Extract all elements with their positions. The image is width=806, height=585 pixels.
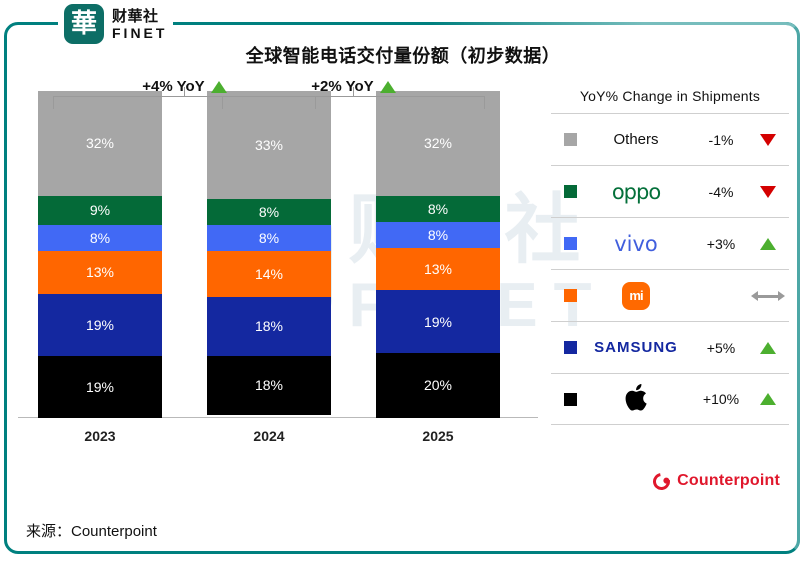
- legend-brand: vivo: [577, 218, 695, 269]
- brand-name-en: FINET: [112, 26, 167, 40]
- bar-segment-label: 32%: [86, 135, 114, 151]
- bar-segment-label: 13%: [86, 264, 114, 280]
- legend-row: oppo-4%: [551, 165, 789, 217]
- legend-color-swatch: [564, 289, 577, 302]
- bar-segment: 20%: [376, 353, 500, 418]
- bar-segment: 13%: [38, 251, 162, 294]
- counterpoint-wordmark: Counterpoint: [677, 472, 780, 490]
- legend-color-swatch: [564, 393, 577, 406]
- stacked-bar: 32%8%8%13%19%20%: [376, 91, 500, 418]
- x-axis-tick-label: 2023: [38, 428, 162, 444]
- xiaomi-logo-icon: mi: [622, 282, 650, 310]
- yoy-change-label: +2% YoY: [222, 78, 485, 95]
- triangle-up-icon: [760, 342, 776, 354]
- counterpoint-logo-icon: [650, 469, 674, 493]
- legend-row: SAMSUNG+5%: [551, 321, 789, 373]
- legend-row: vivo+3%: [551, 217, 789, 269]
- yoy-bracket: [222, 96, 485, 109]
- triangle-up-icon: [380, 81, 396, 93]
- bar-segment: 8%: [376, 222, 500, 248]
- legend-direction-indicator: [747, 134, 789, 146]
- bar-segment-label: 19%: [86, 379, 114, 395]
- legend-panel: YoY% Change in Shipments Others-1%oppo-4…: [551, 88, 789, 425]
- legend-row: +10%: [551, 373, 789, 425]
- bar-segment: 19%: [38, 294, 162, 356]
- legend-color-swatch: [564, 133, 577, 146]
- legend-direction-indicator: [747, 186, 789, 198]
- bar-segment-label: 8%: [428, 201, 448, 217]
- bar-segment-label: 9%: [90, 202, 110, 218]
- legend-rows: Others-1%oppo-4%vivo+3%miSAMSUNG+5%+10%: [551, 113, 789, 425]
- bar-segment-label: 33%: [255, 137, 283, 153]
- brand-name-cn: 财華社: [112, 9, 167, 24]
- legend-direction-indicator: [747, 342, 789, 354]
- legend-row: mi: [551, 269, 789, 321]
- bar-segment: 9%: [38, 196, 162, 225]
- stacked-bar: 33%8%8%14%18%18%: [207, 91, 331, 418]
- legend-brand: oppo: [577, 166, 695, 217]
- stacked-bar: 32%9%8%13%19%19%: [38, 91, 162, 418]
- legend-color-swatch: [564, 237, 577, 250]
- legend-brand-label: oppo: [612, 180, 660, 204]
- triangle-down-icon: [760, 134, 776, 146]
- bar-segment: 19%: [38, 356, 162, 418]
- triangle-down-icon: [760, 186, 776, 198]
- legend-direction-indicator: [747, 393, 789, 405]
- yoy-change-text: +4% YoY: [142, 78, 204, 95]
- bar-segment-label: 8%: [90, 230, 110, 246]
- x-axis-tick-label: 2024: [207, 428, 331, 444]
- bar-segment: 13%: [376, 248, 500, 291]
- legend-direction-indicator: [747, 291, 789, 301]
- legend-change-pct: +5%: [695, 340, 747, 356]
- source-note: 来源：Counterpoint: [26, 520, 157, 541]
- legend-change-pct: +3%: [695, 236, 747, 252]
- bar-segment-label: 18%: [255, 377, 283, 393]
- bar-segment-label: 19%: [86, 317, 114, 333]
- legend-brand-label: Others: [613, 131, 658, 148]
- bar-segment: 8%: [207, 225, 331, 251]
- legend-brand: mi: [577, 270, 695, 321]
- bar-segment: 14%: [207, 251, 331, 297]
- bar-segment-label: 20%: [424, 377, 452, 393]
- bar-segment-label: 32%: [424, 135, 452, 151]
- finet-logo-icon: 華: [64, 4, 104, 44]
- legend-direction-indicator: [747, 238, 789, 250]
- legend-title: YoY% Change in Shipments: [551, 88, 789, 113]
- bar-segment-label: 18%: [255, 318, 283, 334]
- bar-segment-label: 13%: [424, 261, 452, 277]
- legend-brand-label: vivo: [614, 232, 658, 256]
- legend-color-swatch: [564, 341, 577, 354]
- bar-segment-label: 8%: [428, 227, 448, 243]
- legend-brand: Others: [577, 114, 695, 165]
- bar-segment: 8%: [38, 225, 162, 251]
- bar-segment: 18%: [207, 356, 331, 415]
- bar-segment-label: 19%: [424, 314, 452, 330]
- legend-row: Others-1%: [551, 113, 789, 165]
- triangle-up-icon: [760, 238, 776, 250]
- bar-segment: 19%: [376, 290, 500, 352]
- legend-change-pct: -1%: [695, 132, 747, 148]
- bar-segment: 18%: [207, 297, 331, 356]
- double-arrow-icon: [751, 291, 785, 301]
- x-axis-tick-label: 2025: [376, 428, 500, 444]
- bar-segment: 8%: [376, 196, 500, 222]
- legend-brand-label: SAMSUNG: [594, 339, 678, 356]
- bar-segment-label: 8%: [259, 204, 279, 220]
- legend-change-pct: -4%: [695, 184, 747, 200]
- legend-brand: [577, 374, 695, 424]
- brand-logo: 華 财華社 FINET: [58, 2, 173, 46]
- bar-segment: 8%: [207, 199, 331, 225]
- legend-change-pct: +10%: [695, 391, 747, 407]
- bar-column: 32%9%8%13%19%19%: [38, 91, 162, 418]
- bar-column: 32%8%8%13%19%20%: [376, 91, 500, 418]
- legend-color-swatch: [564, 185, 577, 198]
- triangle-up-icon: [760, 393, 776, 405]
- legend-brand: SAMSUNG: [577, 322, 695, 373]
- yoy-change-text: +2% YoY: [311, 78, 373, 95]
- bar-segment-label: 14%: [255, 266, 283, 282]
- apple-logo-icon: [625, 384, 647, 415]
- brand-wordmark: 财華社 FINET: [112, 9, 167, 40]
- bar-column: 33%8%8%14%18%18%: [207, 91, 331, 418]
- counterpoint-logo: Counterpoint: [653, 472, 780, 490]
- bar-segment-label: 8%: [259, 230, 279, 246]
- stacked-bar-chart: 32%9%8%13%19%19%202333%8%8%14%18%18%2024…: [18, 78, 538, 450]
